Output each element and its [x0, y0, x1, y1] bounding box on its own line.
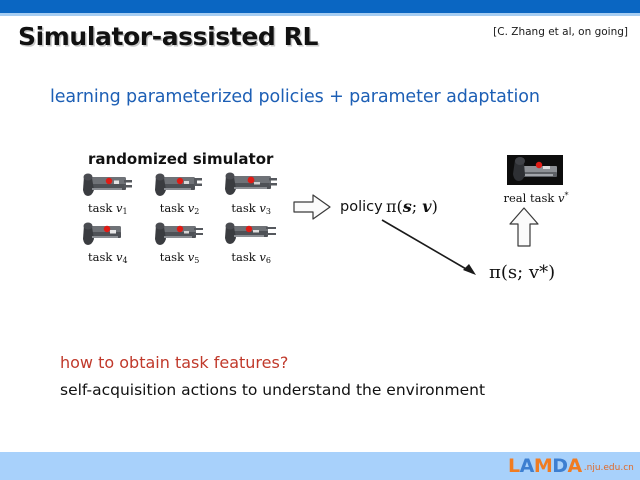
randomized-simulator-label: randomized simulator: [88, 150, 273, 168]
simulator-task-cell: task v5: [144, 221, 216, 265]
top-decorative-band: [0, 0, 640, 13]
task-caption: task v4: [72, 250, 144, 265]
simulator-task-grid: task v1 task v2: [72, 172, 287, 270]
robot-arm-icon: [221, 221, 281, 247]
right-block-arrow-icon: [293, 193, 331, 221]
task-caption: task v3: [215, 201, 287, 216]
up-block-arrow-icon: [509, 207, 539, 247]
robot-arm-icon: [78, 172, 138, 198]
simulator-task-row: task v4 task v5: [72, 221, 287, 265]
page-title: Simulator-assisted RL: [18, 22, 318, 51]
policy-label: policy: [340, 199, 383, 215]
lamda-logo: LAMDA.nju.edu.cn: [508, 456, 634, 478]
robot-arm-icon: [150, 172, 210, 198]
task-caption: task v2: [144, 201, 216, 216]
robot-arm-icon: [150, 221, 210, 247]
adapted-policy-formula: π(s; v*): [489, 262, 555, 283]
simulator-task-cell: task v4: [72, 221, 144, 265]
diagonal-arrow-icon: [380, 218, 485, 280]
slide-canvas: Simulator-assisted RL [C. Zhang et al, o…: [0, 0, 640, 480]
simulator-task-cell: task v2: [144, 172, 216, 216]
robot-arm-icon: [221, 172, 281, 198]
answer-text: self-acquisition actions to understand t…: [60, 381, 485, 399]
robot-arm-icon: [78, 221, 138, 247]
citation-label: [C. Zhang et al, on going]: [493, 26, 628, 38]
real-task-image: [507, 155, 563, 185]
top-decorative-band-light: [0, 13, 640, 16]
simulator-task-row: task v1 task v2: [72, 172, 287, 216]
task-caption: task v6: [215, 250, 287, 265]
task-caption: task v5: [144, 250, 216, 265]
simulator-task-cell: task v1: [72, 172, 144, 216]
simulator-task-cell: task v3: [215, 172, 287, 216]
question-text: how to obtain task features?: [60, 353, 288, 372]
subtitle-text: learning parameterized policies + parame…: [50, 87, 540, 107]
task-caption: task v1: [72, 201, 144, 216]
real-task-caption: real task v*: [490, 191, 582, 205]
simulator-task-cell: task v6: [215, 221, 287, 265]
policy-formula: π(s; v): [386, 197, 438, 216]
